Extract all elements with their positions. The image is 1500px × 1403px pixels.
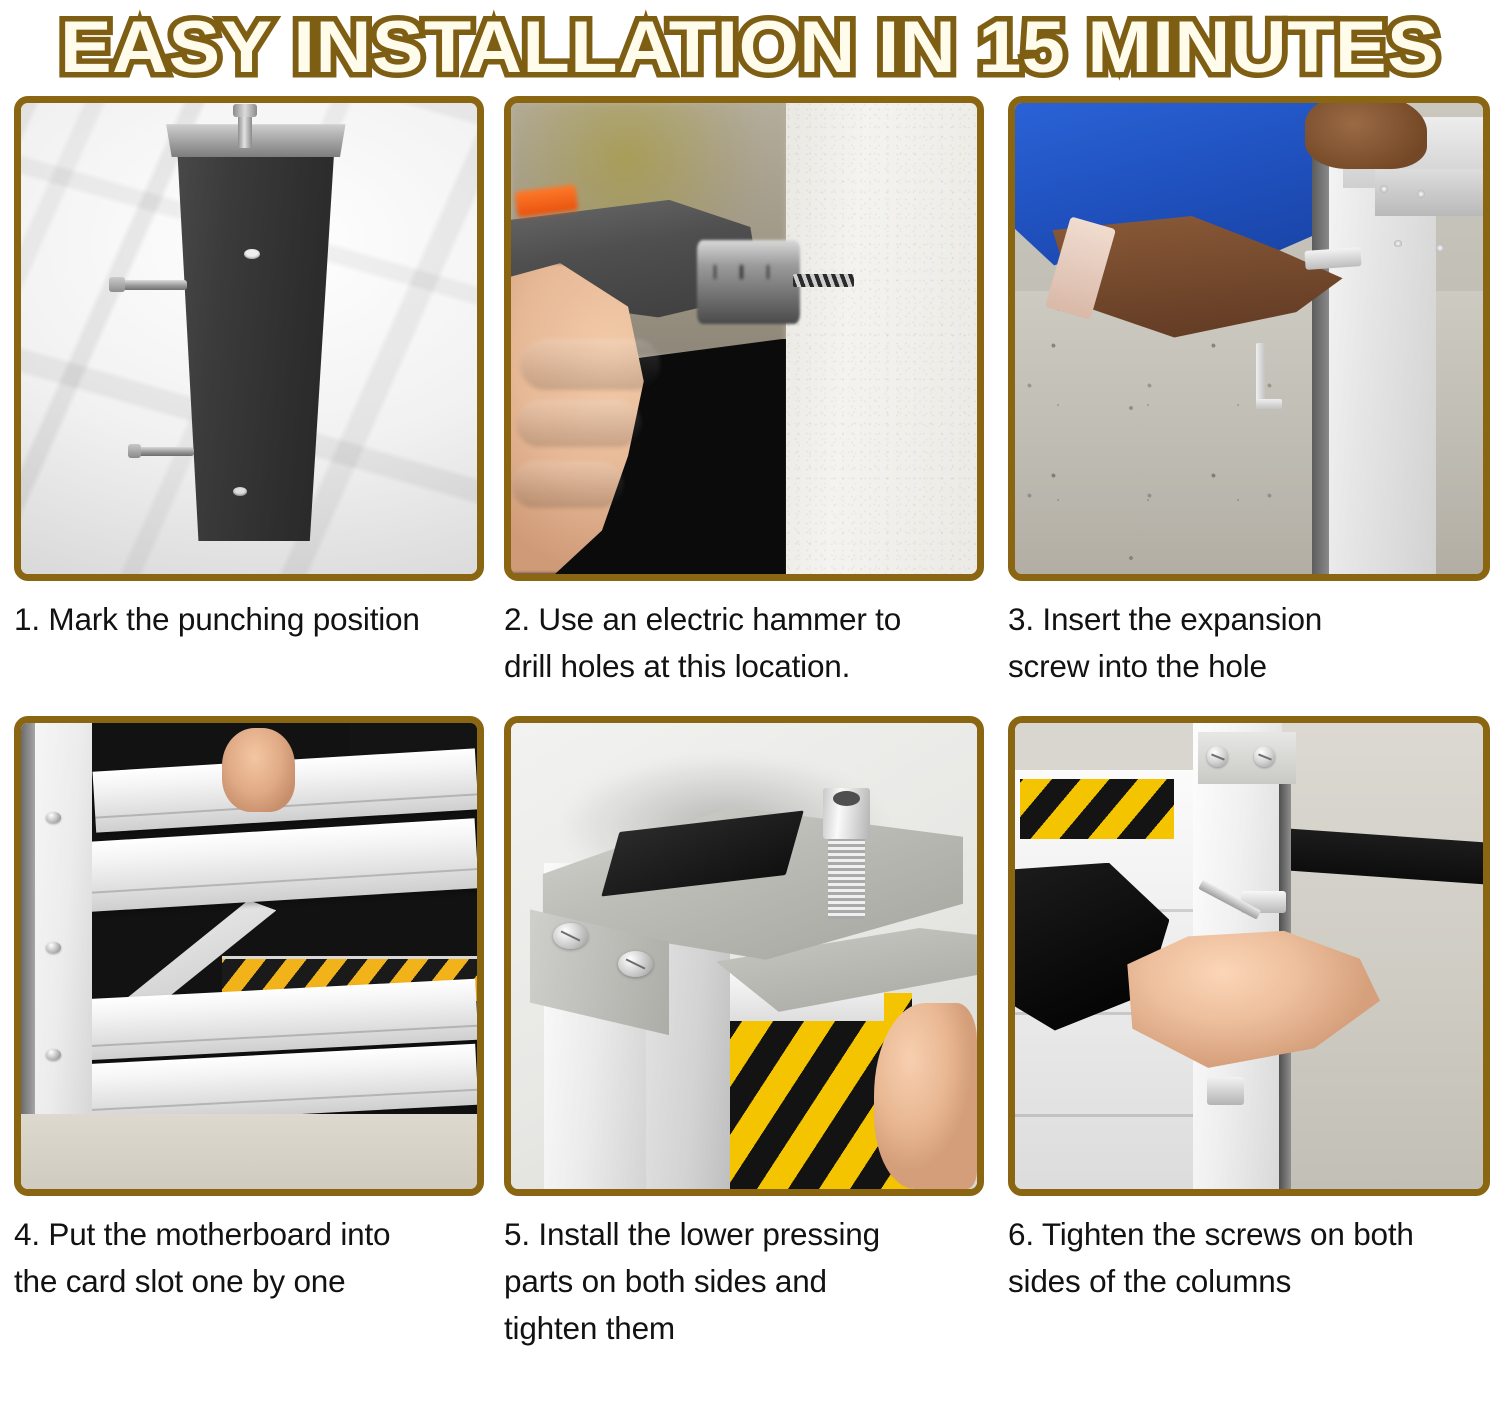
page-title: EASY INSTALLATION IN 15 MINUTES xyxy=(60,10,1439,86)
step-card-1: 1. Mark the punching position xyxy=(0,96,496,716)
floor-surface xyxy=(21,1114,477,1189)
step-1-photo-mark-punching-position xyxy=(21,103,477,574)
hazard-stripe-band xyxy=(1020,779,1174,840)
step-1-photo-frame xyxy=(14,96,484,581)
post-dark-edge xyxy=(21,723,35,1133)
masonry-drill-bit xyxy=(793,274,854,286)
step-4-caption: 4. Put the motherboard into the card slo… xyxy=(14,1196,484,1315)
step-6-caption: 6. Tighten the screws on both sides of t… xyxy=(1008,1196,1490,1315)
step-card-2: 2. Use an electric hammer to drill holes… xyxy=(496,96,996,716)
step-2-photo-frame xyxy=(504,96,984,581)
upper-stud-bolt xyxy=(114,280,187,290)
step-6-photo-frame xyxy=(1008,716,1490,1196)
step-3-caption: 3. Insert the expansion screw into the h… xyxy=(1008,581,1490,716)
step-5-photo-frame xyxy=(504,716,984,1196)
step-2-caption: 2. Use an electric hammer to drill holes… xyxy=(504,581,984,716)
phillips-screw xyxy=(1254,746,1276,767)
wrench-tool xyxy=(1193,891,1287,966)
worker-upper-hand xyxy=(1305,103,1427,169)
step-5-caption: 5. Install the lower pressing parts on b… xyxy=(504,1196,984,1362)
drill-chuck xyxy=(697,240,800,325)
installation-steps-grid: 1. Mark the punching position xyxy=(0,96,1500,1362)
column-mounting-plate xyxy=(1375,169,1483,216)
allen-key-on-floor xyxy=(1240,343,1282,409)
step-6-photo-tighten-screws xyxy=(1015,723,1483,1189)
lower-screw-fitting xyxy=(1207,1077,1244,1105)
white-wall-surface xyxy=(786,103,977,574)
post-top-cap xyxy=(162,124,349,157)
installer-hand xyxy=(222,728,295,812)
step-2-photo-drill-holes xyxy=(511,103,977,574)
step-3-photo-frame xyxy=(1008,96,1490,581)
top-bolt-head xyxy=(233,104,258,116)
step-card-6: 6. Tighten the screws on both sides of t… xyxy=(996,716,1500,1362)
threaded-bolt-shaft xyxy=(828,835,865,919)
installer-thumb xyxy=(874,1003,977,1189)
expansion-screw xyxy=(1305,247,1362,270)
lower-stud-bolt xyxy=(133,447,195,456)
column-shadow-edge xyxy=(1312,145,1328,574)
header-banner: EASY INSTALLATION IN 15 MINUTES xyxy=(0,0,1500,96)
step-5-photo-lower-pressing-parts xyxy=(511,723,977,1189)
step-card-5: 5. Install the lower pressing parts on b… xyxy=(496,716,996,1362)
lower-mounting-hole xyxy=(233,487,247,496)
step-card-3: 3. Insert the expansion screw into the h… xyxy=(996,96,1500,716)
phillips-screw xyxy=(1207,746,1229,767)
column-card-slot-post xyxy=(28,723,92,1133)
step-card-4: 4. Put the motherboard into the card slo… xyxy=(0,716,496,1362)
step-4-photo-frame xyxy=(14,716,484,1196)
step-1-caption: 1. Mark the punching position xyxy=(14,581,484,669)
step-3-photo-insert-expansion-screw xyxy=(1015,103,1483,574)
step-4-photo-motherboard-card-slot xyxy=(21,723,477,1189)
